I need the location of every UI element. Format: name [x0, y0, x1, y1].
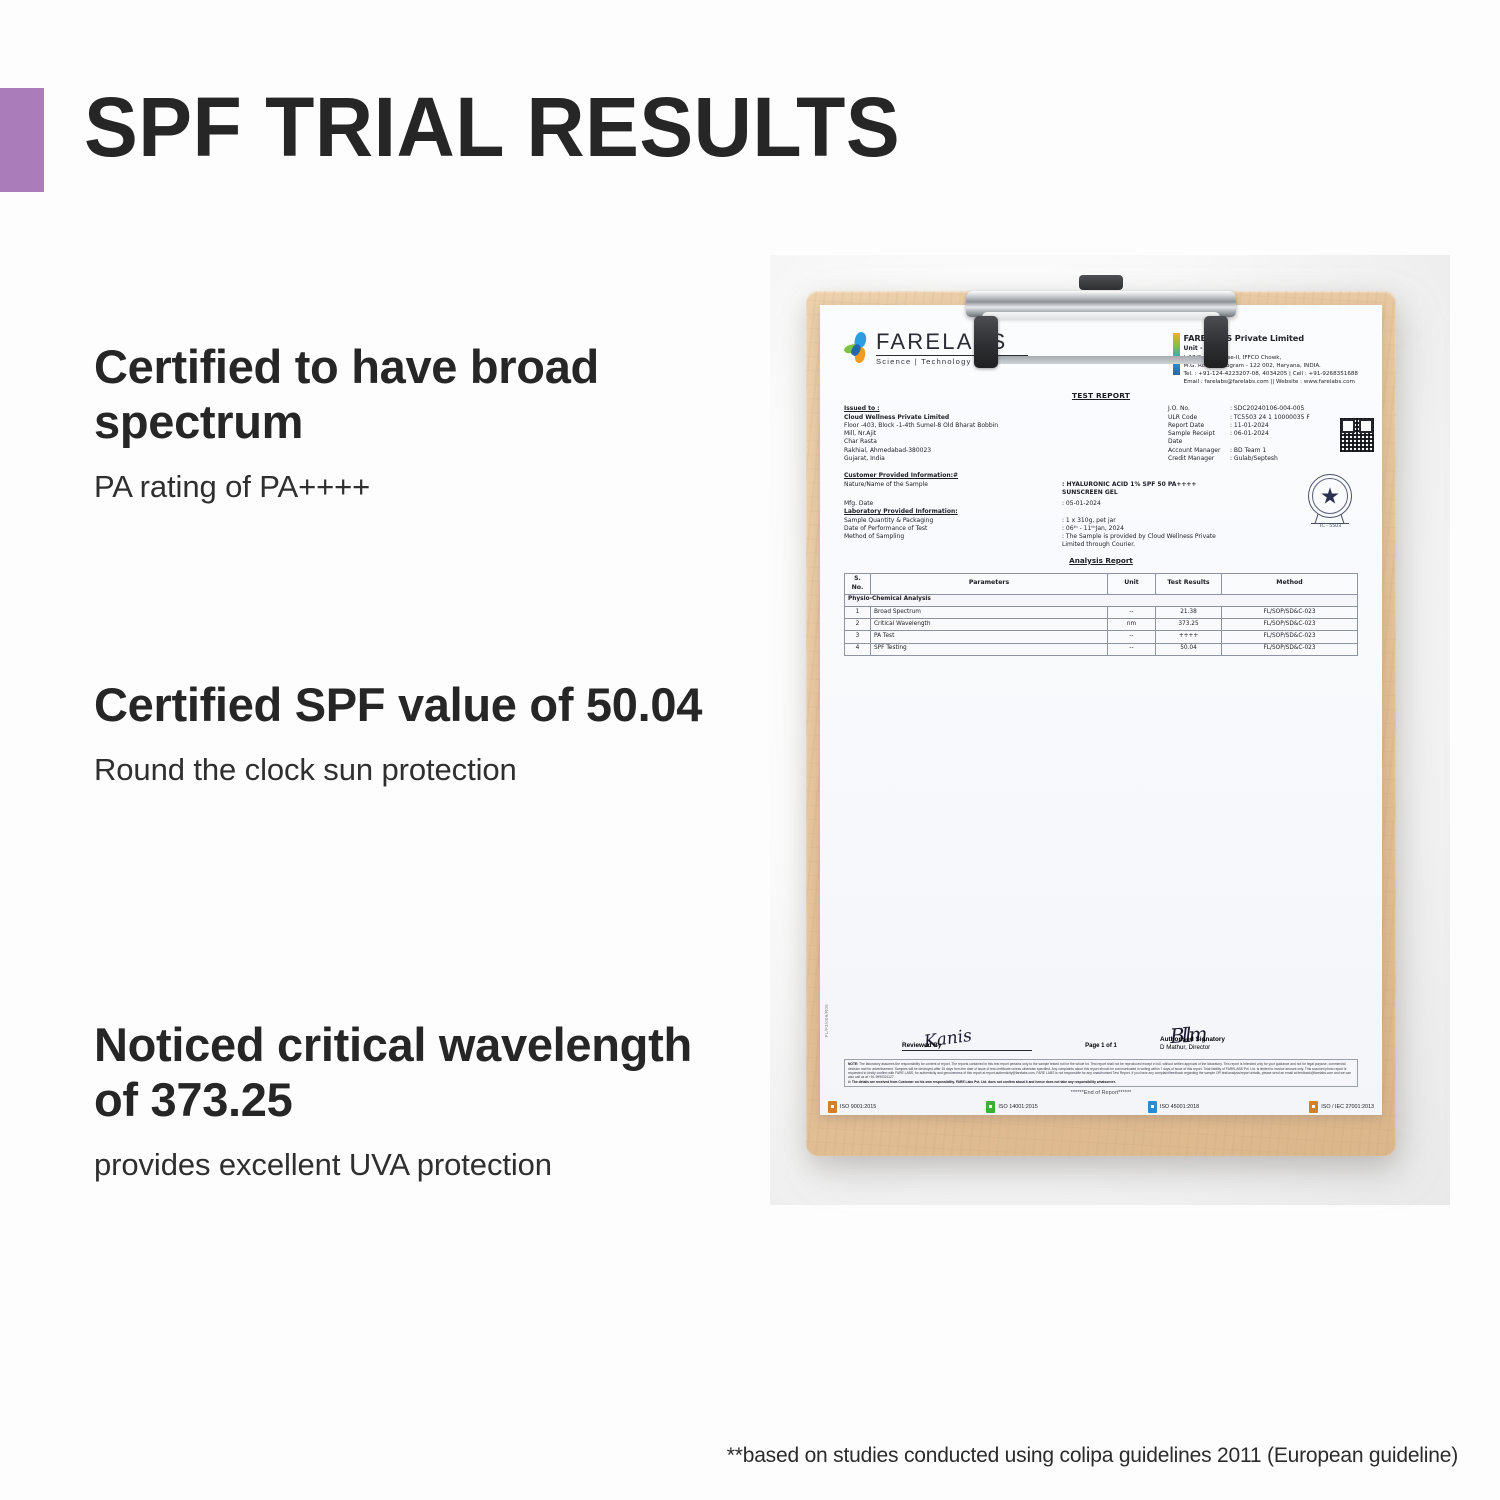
field-value-cont: SUNSCREEN GEL [1062, 489, 1118, 496]
meta-key: Sample Receipt Date [1168, 430, 1230, 447]
field-value: : HYALURONIC ACID 1% SPF 50 PA++++ [1062, 481, 1196, 488]
client-address-line: Floor -403, Block -1-4th Sumel-8 Old Bha… [844, 422, 1072, 430]
iso-badge-icon [1309, 1101, 1318, 1113]
feature-heading: Noticed critical wavelength of 373.25 [94, 1018, 744, 1128]
cell-parameter: PA Test [871, 631, 1108, 643]
authorised-signatory-block: Bllm Authorised Signatory D Mathur, Dire… [1160, 1036, 1310, 1052]
droplet-logo-icon [844, 331, 872, 365]
cell-unit: -- [1108, 631, 1156, 643]
company-line3: Tel. : +91-124-4223207-08, 4034205 | Cel… [1184, 370, 1358, 378]
table-header-row: S. No. Parameters Unit Test Results Meth… [845, 573, 1358, 594]
meta-value: : 11-01-2024 [1230, 422, 1358, 430]
test-report-page: FARELABS Science | Technology | Innovati… [820, 305, 1382, 1115]
field-value-cont: Limited through Courier. [1062, 541, 1135, 548]
iso-badge: ISO 45001:2018 [1148, 1101, 1199, 1113]
field-key: Mfg. Date [844, 500, 1062, 508]
meta-value: : TC5503 24 1 10000035 F [1230, 414, 1358, 422]
table-section-row: Physio-Chemical Analysis [845, 594, 1358, 606]
end-of-report-marker: ******End of Report****** [1071, 1090, 1132, 1096]
signature-line [902, 1050, 1032, 1051]
accent-bar [0, 88, 44, 192]
meta-key: Credit Manager [1168, 455, 1230, 463]
clipboard-clip[interactable] [966, 282, 1236, 368]
cell-parameter: SPF Testing [871, 643, 1108, 655]
iso-badge-icon [828, 1101, 837, 1113]
qr-code-icon [1340, 418, 1374, 452]
iso-badge: ISO 14001:2015 [986, 1101, 1037, 1113]
feature-item: Certified SPF value of 50.04 Round the c… [94, 678, 734, 790]
cell-result: ++++ [1156, 631, 1222, 643]
cell-method: FL/SOP/SD&C-023 [1222, 631, 1358, 643]
cell-result: 50.04 [1156, 643, 1222, 655]
authorised-signature-mark: Bllm [1169, 1022, 1205, 1048]
client-address-line: Gujarat, India [844, 455, 1072, 463]
column-header: Method [1222, 573, 1358, 594]
analysis-report-heading: Analysis Report [844, 556, 1358, 566]
nabl-accreditation-seal-icon: TC - 5503 [1304, 474, 1356, 526]
iso-badge-label: ISO 14001:2015 [998, 1104, 1037, 1110]
field-value: : 1 x 310g, pet jar [1062, 517, 1302, 525]
poster-canvas: SPF TRIAL RESULTS Certified to have broa… [0, 0, 1500, 1500]
iso-badge-label: ISO 45001:2018 [1160, 1104, 1199, 1110]
lab-info-label: Laboratory Provided Information: [844, 508, 1302, 516]
iso-badge: ISO 9001:2015 [828, 1101, 876, 1113]
field-key: Date of Performance of Test [844, 525, 1062, 533]
clipboard-photo: FARELABS Science | Technology | Innovati… [770, 255, 1450, 1205]
company-line4: Email : farelabs@farelabs.com || Website… [1184, 378, 1358, 386]
client-name: Cloud Wellness Private Limited [844, 414, 1072, 422]
client-address-line: Char Rasta [844, 438, 1072, 446]
reviewed-by-block: Kanis Reviewed By [902, 1050, 1032, 1051]
table-row: 2 Critical Wavelength nm 373.25 FL/SOP/S… [845, 619, 1358, 631]
cell-method: FL/SOP/SD&C-023 [1222, 643, 1358, 655]
iso-badge-icon [986, 1101, 995, 1113]
clip-lever [982, 312, 1220, 364]
page-title: SPF TRIAL RESULTS [84, 83, 900, 171]
report-meta-block: J.O. No.: SDC20240106-004-005 ULR Code: … [1168, 405, 1358, 463]
feature-subtext: PA rating of PA++++ [94, 467, 734, 507]
customer-info-label: Customer Provided Information:# [844, 472, 1302, 480]
client-address-line: Rakhial, Ahmedabad-380023 [844, 447, 1072, 455]
cell-sn: 1 [845, 607, 871, 619]
column-header: Parameters [871, 573, 1108, 594]
iso-badge-icon [1148, 1101, 1157, 1113]
cell-result: 373.25 [1156, 619, 1222, 631]
meta-value: : 06-01-2024 [1230, 430, 1358, 447]
feature-heading: Certified to have broad spectrum [94, 340, 734, 450]
iso-badge-label: ISO / IEC 27001:2013 [1321, 1104, 1374, 1110]
section-label: Physio-Chemical Analysis [845, 594, 1358, 606]
test-report-heading: TEST REPORT [844, 391, 1358, 401]
cell-sn: 3 [845, 631, 871, 643]
meta-value: : Gulab/Septesh [1230, 455, 1358, 463]
column-header: Test Results [1156, 573, 1222, 594]
page-number: Page 1 of 1 [1085, 1043, 1117, 1049]
cell-method: FL/SOP/SD&C-023 [1222, 607, 1358, 619]
feature-item: Noticed critical wavelength of 373.25 pr… [94, 1018, 744, 1185]
clip-tab-icon [1079, 275, 1123, 290]
cell-unit: nm [1108, 619, 1156, 631]
field-key: Sample Quantity & Packaging [844, 517, 1062, 525]
field-key: Nature/Name of the Sample [844, 481, 1062, 498]
clip-grip-left-icon [974, 316, 998, 368]
clipboard-board: FARELABS Science | Technology | Innovati… [806, 291, 1396, 1156]
authorised-signatory-label: Authorised Signatory [1160, 1036, 1310, 1043]
meta-key: Account Manager [1168, 447, 1230, 455]
field-value: : 06ᵗʰ - 11ᵗʰJan, 2024 [1062, 525, 1302, 533]
reviewed-by-label: Reviewed By [902, 1042, 941, 1049]
table-row: 1 Broad Spectrum -- 21.38 FL/SOP/SD&C-02… [845, 607, 1358, 619]
note-disclaimer-box: NOTE: The laboratory assumes the respons… [844, 1059, 1358, 1087]
seal-code: TC - 5503 [1304, 524, 1356, 530]
cell-sn: 4 [845, 643, 871, 655]
table-row: 4 SPF Testing -- 50.04 FL/SOP/SD&C-023 [845, 643, 1358, 655]
cell-method: FL/SOP/SD&C-023 [1222, 619, 1358, 631]
field-value: : 05-01-2024 [1062, 500, 1302, 508]
form-version-code: FL/F3/009/R05 [824, 1004, 829, 1037]
feature-subtext: Round the clock sun protection [94, 750, 734, 790]
cell-parameter: Critical Wavelength [871, 619, 1108, 631]
feature-subtext: provides excellent UVA protection [94, 1145, 744, 1185]
clip-grip-right-icon [1204, 316, 1228, 368]
iso-badge-label: ISO 9001:2015 [840, 1104, 876, 1110]
column-header: Unit [1108, 573, 1156, 594]
feature-heading: Certified SPF value of 50.04 [94, 678, 734, 733]
meta-key: J.O. No. [1168, 405, 1230, 413]
note-body: The laboratory assumes the responsibilit… [848, 1062, 1351, 1079]
cell-sn: 2 [845, 619, 871, 631]
meta-key: ULR Code [1168, 414, 1230, 422]
meta-key: Report Date [1168, 422, 1230, 430]
meta-value: : SDC20240106-004-005 [1230, 405, 1358, 413]
table-row: 3 PA Test -- ++++ FL/SOP/SD&C-023 [845, 631, 1358, 643]
feature-item: Certified to have broad spectrum PA rati… [94, 340, 734, 507]
iso-certification-row: ISO 9001:2015 ISO 14001:2015 ISO 45001:2… [828, 1101, 1374, 1113]
note-hash: #: The details are received from Custome… [848, 1080, 1116, 1084]
cell-unit: -- [1108, 607, 1156, 619]
field-key: Method of Sampling [844, 533, 1062, 550]
cell-result: 21.38 [1156, 607, 1222, 619]
footnote: **based on studies conducted using colip… [727, 1444, 1458, 1468]
column-header: S. No. [845, 573, 871, 594]
cell-unit: -- [1108, 643, 1156, 655]
issued-to-block: Issued to : Cloud Wellness Private Limit… [844, 405, 1072, 463]
analysis-results-table: S. No. Parameters Unit Test Results Meth… [844, 573, 1358, 656]
field-value: : The Sample is provided by Cloud Wellne… [1062, 533, 1216, 540]
iso-badge: ISO / IEC 27001:2013 [1309, 1101, 1374, 1113]
signature-area: Kanis Reviewed By Bllm Authorised Signat… [844, 1011, 1358, 1051]
cell-parameter: Broad Spectrum [871, 607, 1108, 619]
meta-value: : BD Team 1 [1230, 447, 1358, 455]
client-address-line: Mill, Nr.Ajit [844, 430, 1072, 438]
issued-to-label: Issued to : [844, 405, 1072, 413]
